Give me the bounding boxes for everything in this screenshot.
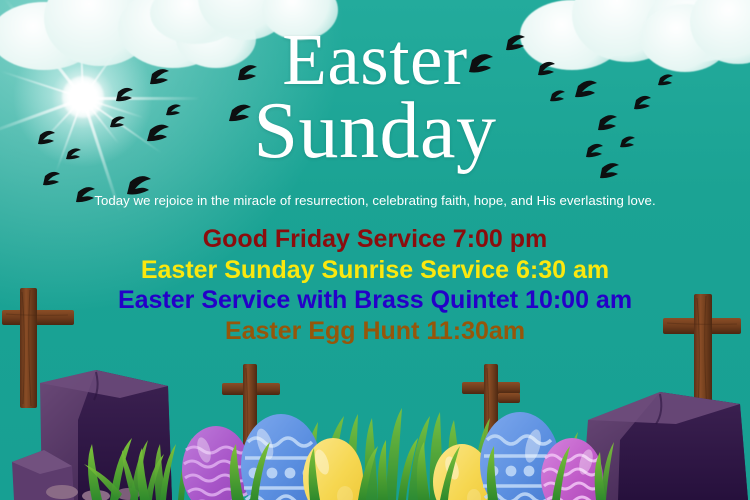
subtitle-text: Today we rejoice in the miracle of resur… xyxy=(0,193,750,208)
easter-sunday-poster: Easter Sunday Today we rejoice in the mi… xyxy=(0,0,750,500)
schedule-item-good-friday: Good Friday Service 7:00 pm xyxy=(0,224,750,255)
schedule-item-brass-quintet: Easter Service with Brass Quintet 10:00 … xyxy=(0,285,750,316)
schedule-item-sunrise-service: Easter Sunday Sunrise Service 6:30 am xyxy=(0,255,750,286)
schedule-item-egg-hunt: Easter Egg Hunt 11:30am xyxy=(0,316,750,347)
wooden-beam-stub xyxy=(498,393,520,403)
title-line-2: Sunday xyxy=(0,94,750,168)
service-schedule-list: Good Friday Service 7:00 pm Easter Sunda… xyxy=(0,224,750,346)
title-line-1: Easter xyxy=(0,26,750,94)
page-title: Easter Sunday xyxy=(0,26,750,168)
